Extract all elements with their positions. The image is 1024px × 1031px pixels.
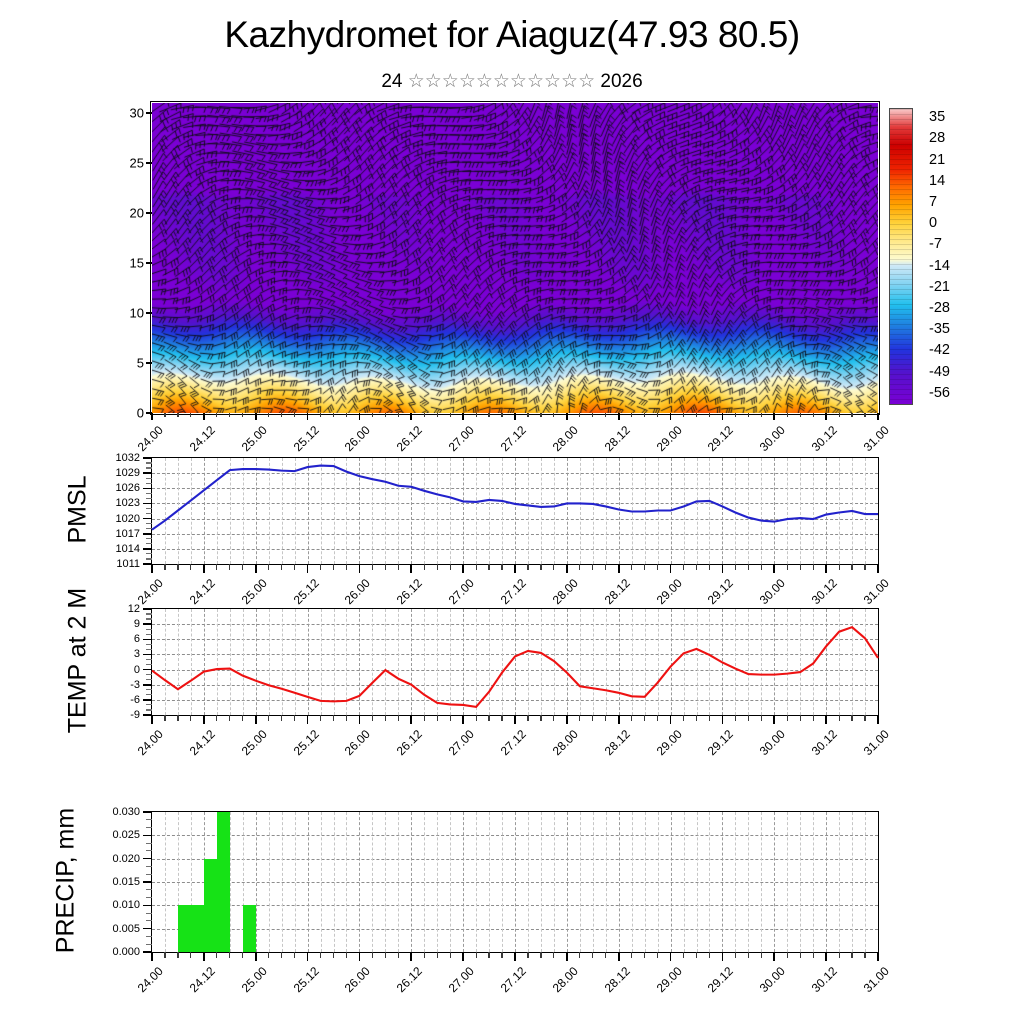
precip-ytick-minor <box>146 897 152 898</box>
precip-vgrid <box>774 812 775 952</box>
precip-ytick-minor <box>146 920 152 921</box>
precip-xtick <box>773 952 775 961</box>
precip-vgrid-minor <box>684 812 685 952</box>
precip-xtick-minor <box>851 952 852 958</box>
precip-xtick <box>307 952 309 961</box>
precip-xtick-minor <box>696 952 697 958</box>
precip-vgrid-minor <box>165 812 166 952</box>
precip-xtick <box>618 952 620 961</box>
precip-vgrid-minor <box>541 812 542 952</box>
precip-vgrid-minor <box>580 812 581 952</box>
precip-axis-title: PRECIP, mm <box>52 731 81 1031</box>
precip-xtick-minor <box>787 952 788 958</box>
precip-xtick-minor <box>320 952 321 958</box>
precip-xtick-minor <box>333 952 334 958</box>
precip-xtick <box>566 952 568 961</box>
precip-xtick-minor <box>398 952 399 958</box>
precip-xtick-minor <box>813 952 814 958</box>
precip-ytick-label: 0.005 <box>94 923 140 935</box>
precip-vgrid-minor <box>346 812 347 952</box>
precip-vgrid-minor <box>282 812 283 952</box>
precip-xtick-minor <box>450 952 451 958</box>
precip-vgrid-minor <box>437 812 438 952</box>
precip-xtick-minor <box>657 952 658 958</box>
precip-xtick-minor <box>385 952 386 958</box>
precip-ytick <box>143 928 152 930</box>
precip-xtick-label: 25.00 <box>238 964 269 995</box>
precip-bar <box>178 905 191 952</box>
precip-xtick <box>722 952 724 961</box>
precip-xtick-minor <box>476 952 477 958</box>
precip-xtick-minor <box>372 952 373 958</box>
precip-ytick-minor <box>146 889 152 890</box>
precip-xtick-minor <box>527 952 528 958</box>
precip-vgrid-minor <box>593 812 594 952</box>
precip-vgrid-minor <box>385 812 386 952</box>
precip-xtick <box>151 952 153 961</box>
precip-vgrid <box>671 812 672 952</box>
precip-ytick <box>143 811 152 813</box>
precip-vgrid-minor <box>800 812 801 952</box>
precip-xtick-label: 26.12 <box>394 964 425 995</box>
precip-xtick-label: 24.00 <box>135 964 166 995</box>
precip-xtick-minor <box>748 952 749 958</box>
precip-xtick-label: 24.12 <box>187 964 218 995</box>
precip-xtick-label: 31.00 <box>861 964 892 995</box>
precip-ytick-label: 0.010 <box>94 899 140 911</box>
precip-xtick-label: 26.00 <box>342 964 373 995</box>
precip-xtick-minor <box>579 952 580 958</box>
precip-xtick-minor <box>437 952 438 958</box>
precip-xtick-label: 28.12 <box>601 964 632 995</box>
precip-vgrid-minor <box>230 812 231 952</box>
precip-ytick-label: 0.025 <box>94 829 140 841</box>
precip-xtick-minor <box>644 952 645 958</box>
precip-xtick-label: 29.00 <box>653 964 684 995</box>
precip-frame <box>151 811 879 953</box>
precip-xtick-minor <box>424 952 425 958</box>
precip-xtick <box>514 952 516 961</box>
precip-ytick-minor <box>146 827 152 828</box>
precip-xtick-minor <box>216 952 217 958</box>
precip-vgrid-minor <box>554 812 555 952</box>
precip-ytick-minor <box>146 944 152 945</box>
precip-xtick-minor <box>735 952 736 958</box>
chart-page: Kazhydromet for Aiaguz(47.93 80.5) 24 ☆☆… <box>0 0 1024 1024</box>
precip-vgrid-minor <box>295 812 296 952</box>
precip-xtick <box>359 952 361 961</box>
precip-vgrid-minor <box>334 812 335 952</box>
precip-xtick-minor <box>501 952 502 958</box>
precip-xtick-minor <box>281 952 282 958</box>
precip-ytick-minor <box>146 936 152 937</box>
precip-vgrid-minor <box>709 812 710 952</box>
precip-ytick-label: 0.020 <box>94 853 140 865</box>
precip-ytick-minor <box>146 843 152 844</box>
precip-xtick <box>670 952 672 961</box>
precip-xtick-minor <box>540 952 541 958</box>
precip-vgrid-minor <box>658 812 659 952</box>
precip-xtick <box>462 952 464 961</box>
precip-vgrid <box>567 812 568 952</box>
precip-xtick-minor <box>592 952 593 958</box>
precip-xtick <box>877 952 879 961</box>
precip-xtick-minor <box>488 952 489 958</box>
precip-vgrid-minor <box>489 812 490 952</box>
precip-vgrid <box>722 812 723 952</box>
precip-vgrid-minor <box>632 812 633 952</box>
precip-xtick-label: 30.00 <box>757 964 788 995</box>
precip-ytick-label: 0.030 <box>94 806 140 818</box>
precip-xtick-minor <box>683 952 684 958</box>
precip-vgrid <box>515 812 516 952</box>
precip-xtick-minor <box>346 952 347 958</box>
precip-xtick-minor <box>709 952 710 958</box>
precip-vgrid-minor <box>748 812 749 952</box>
precip-xtick-minor <box>800 952 801 958</box>
precip-xtick <box>410 952 412 961</box>
precip-bar <box>243 905 256 952</box>
precip-ytick <box>143 881 152 883</box>
precip-xtick-minor <box>177 952 178 958</box>
precip-xtick-minor <box>839 952 840 958</box>
precip-ytick <box>143 835 152 837</box>
precip-xtick-minor <box>164 952 165 958</box>
precip-xtick-label: 27.12 <box>498 964 529 995</box>
precip-xtick-label: 29.12 <box>705 964 736 995</box>
precip-vgrid-minor <box>697 812 698 952</box>
precip-ytick <box>143 858 152 860</box>
precip-vgrid <box>411 812 412 952</box>
precip-xtick-minor <box>268 952 269 958</box>
precip-ytick-label: 0.015 <box>94 876 140 888</box>
precip-bar <box>217 812 230 952</box>
precip-xtick-minor <box>190 952 191 958</box>
precip-ytick-minor <box>146 866 152 867</box>
precip-bar <box>191 905 204 952</box>
precip-vgrid <box>359 812 360 952</box>
precip-xtick-minor <box>242 952 243 958</box>
precip-vgrid-minor <box>839 812 840 952</box>
precip-vgrid-minor <box>450 812 451 952</box>
precip-vgrid <box>619 812 620 952</box>
precip-xtick-minor <box>605 952 606 958</box>
precip-vgrid-minor <box>321 812 322 952</box>
precip-xtick <box>825 952 827 961</box>
precip-vgrid-minor <box>502 812 503 952</box>
precip-xtick-minor <box>631 952 632 958</box>
precip-vgrid-minor <box>269 812 270 952</box>
precip-xtick-minor <box>864 952 865 958</box>
precip-vgrid-minor <box>606 812 607 952</box>
precip-vgrid-minor <box>476 812 477 952</box>
precip-vgrid <box>308 812 309 952</box>
precip-vgrid-minor <box>865 812 866 952</box>
precip-ytick-label: 0.000 <box>94 946 140 958</box>
precip-vgrid-minor <box>645 812 646 952</box>
precip-vgrid-minor <box>761 812 762 952</box>
precip-xtick-minor <box>229 952 230 958</box>
precip-xtick-minor <box>761 952 762 958</box>
precip-xtick <box>203 952 205 961</box>
precip-vgrid-minor <box>372 812 373 952</box>
precip-xtick-minor <box>294 952 295 958</box>
precip-xtick-minor <box>553 952 554 958</box>
precip-xtick <box>255 952 257 961</box>
precip-xtick-label: 27.00 <box>446 964 477 995</box>
precip-vgrid-minor <box>787 812 788 952</box>
precip-vgrid <box>463 812 464 952</box>
precip-bar <box>204 859 217 952</box>
precip-xtick-label: 25.12 <box>290 964 321 995</box>
precip-ytick <box>143 905 152 907</box>
precip-ytick-minor <box>146 819 152 820</box>
precip-ytick-minor <box>146 874 152 875</box>
precip-vgrid <box>826 812 827 952</box>
precip-ytick-minor <box>146 850 152 851</box>
precip-xtick-label: 30.12 <box>809 964 840 995</box>
precip-vgrid-minor <box>735 812 736 952</box>
precip-vgrid-minor <box>813 812 814 952</box>
precip-panel: 0.0000.0050.0100.0150.0200.0250.03024.00… <box>0 0 1024 1024</box>
precip-vgrid-minor <box>852 812 853 952</box>
precip-xtick-label: 28.00 <box>550 964 581 995</box>
precip-vgrid-minor <box>398 812 399 952</box>
precip-ytick-minor <box>146 913 152 914</box>
precip-vgrid <box>256 812 257 952</box>
precip-vgrid-minor <box>528 812 529 952</box>
precip-vgrid-minor <box>424 812 425 952</box>
